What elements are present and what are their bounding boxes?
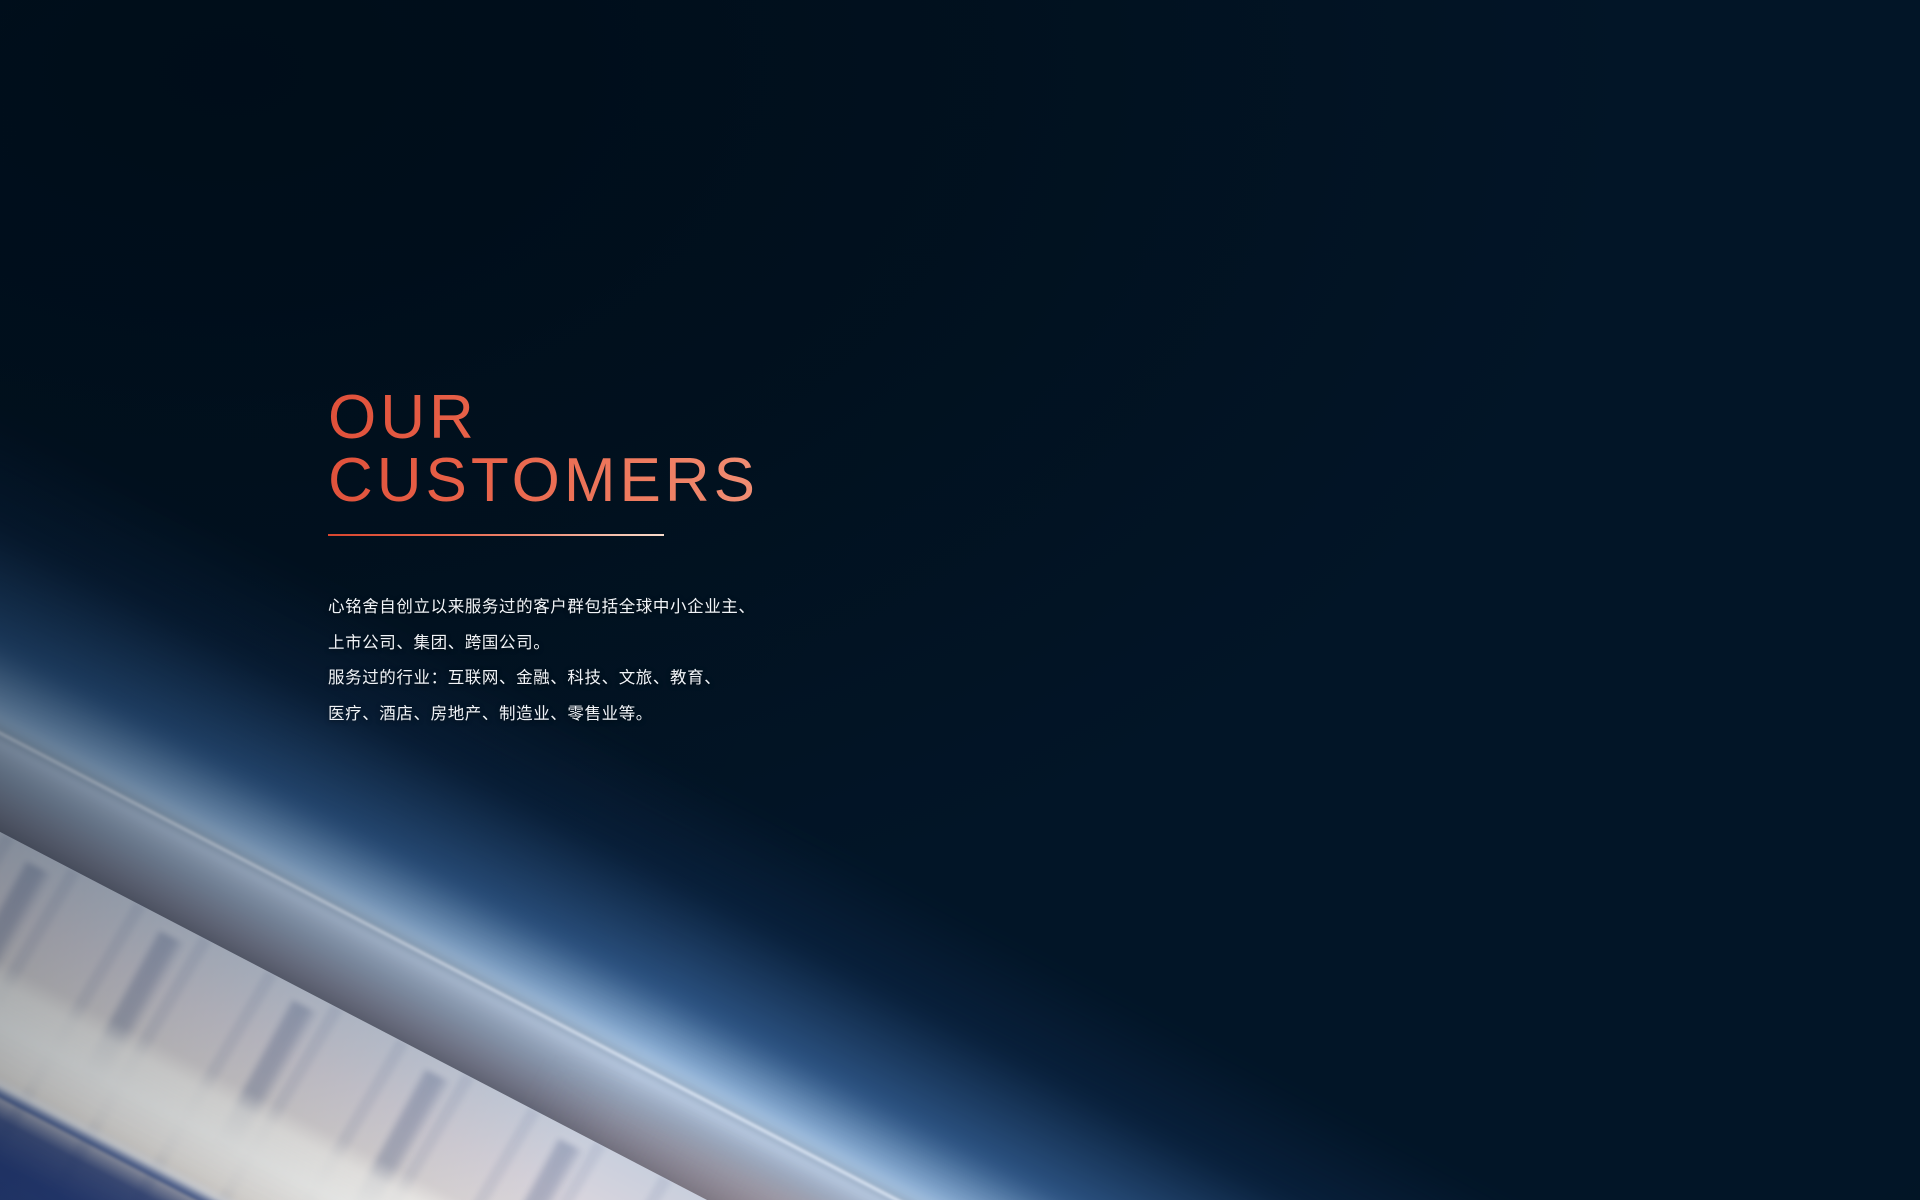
description-paragraph: 心铭舍自创立以来服务过的客户群包括全球中小企业主、 上市公司、集团、跨国公司。 … [328,590,1088,732]
slide-root: OUR CUSTOMERS 心铭舍自创立以来服务过的客户群包括全球中小企业主、 … [0,0,1920,1200]
page-title: OUR CUSTOMERS [328,386,1088,518]
description-line-3: 服务过的行业：互联网、金融、科技、文旅、教育、 [328,661,1088,696]
description-line-2: 上市公司、集团、跨国公司。 [328,626,1088,661]
heading-underline [328,534,664,536]
description-line-1: 心铭舍自创立以来服务过的客户群包括全球中小企业主、 [328,590,1088,625]
content-block: OUR CUSTOMERS 心铭舍自创立以来服务过的客户群包括全球中小企业主、 … [328,386,1088,732]
description-line-4: 医疗、酒店、房地产、制造业、零售业等。 [328,697,1088,732]
